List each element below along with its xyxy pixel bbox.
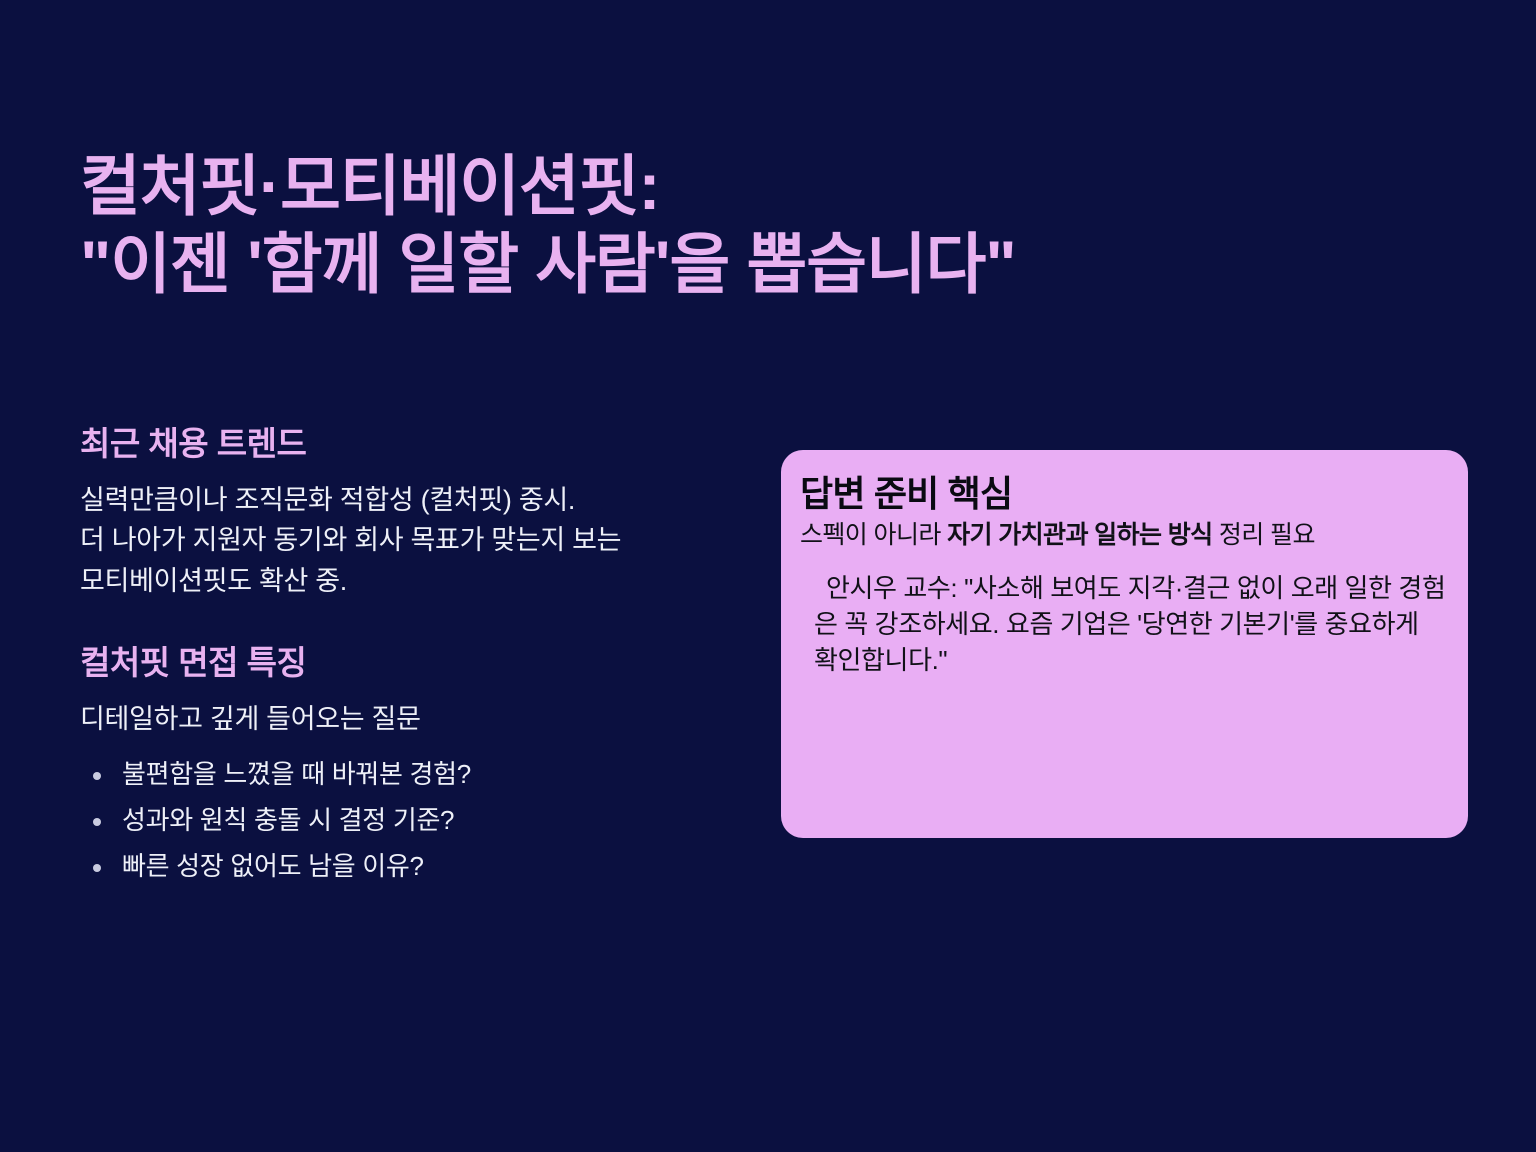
card-subtitle-post: 정리 필요 bbox=[1213, 521, 1315, 549]
list-item: 빠른 성장 없어도 남을 이유? bbox=[80, 853, 720, 879]
list-item: 불편함을 느꼈을 때 바꿔본 경험? bbox=[80, 761, 720, 787]
left-column: 최근 채용 트렌드 실력만큼이나 조직문화 적합성 (컬처핏) 중시. 더 나아… bbox=[80, 424, 720, 899]
body-line-1: 실력만큼이나 조직문화 적합성 (컬처핏) 중시. bbox=[80, 485, 575, 515]
body-line-2: 더 나아가 지원자 동기와 회사 목표가 맞는지 보는 bbox=[80, 525, 621, 555]
title-line-2: "이젠 '함께 일할 사람'을 뽑습니다" bbox=[80, 226, 1420, 304]
list-item-label: 불편함을 느꼈을 때 바꿔본 경험? bbox=[122, 759, 471, 789]
slide-root: 컬처핏·모티베이션핏: "이젠 '함께 일할 사람'을 뽑습니다" 최근 채용 … bbox=[0, 0, 1536, 1152]
answer-prep-card: 답변 준비 핵심 스펙이 아니라 자기 가치관과 일하는 방식 정리 필요 안시… bbox=[781, 450, 1468, 838]
culturefit-question-list: 불편함을 느꼈을 때 바꿔본 경험? 성과와 원칙 충돌 시 결정 기준? 빠른… bbox=[80, 761, 720, 879]
slide-title: 컬처핏·모티베이션핏: "이젠 '함께 일할 사람'을 뽑습니다" bbox=[80, 148, 1420, 304]
card-expert-quote: 안시우 교수: "사소해 보여도 지각·결근 없이 오래 일한 경험은 꼭 강조… bbox=[800, 570, 1448, 679]
card-subtitle: 스펙이 아니라 자기 가치관과 일하는 방식 정리 필요 bbox=[800, 519, 1448, 552]
section-body-recent-trend: 실력만큼이나 조직문화 적합성 (컬처핏) 중시. 더 나아가 지원자 동기와 … bbox=[80, 480, 720, 602]
section-heading-culturefit-interview: 컬처핏 면접 특징 bbox=[80, 643, 720, 683]
bullet-dot-icon bbox=[93, 818, 101, 826]
card-subtitle-emphasis: 자기 가치관과 일하는 방식 bbox=[947, 521, 1212, 549]
title-line-1: 컬처핏·모티베이션핏: bbox=[80, 148, 1420, 226]
bullet-dot-icon bbox=[93, 772, 101, 780]
list-item: 성과와 원칙 충돌 시 결정 기준? bbox=[80, 807, 720, 833]
section-heading-recent-trend: 최근 채용 트렌드 bbox=[80, 424, 720, 464]
card-heading: 답변 준비 핵심 bbox=[800, 472, 1448, 515]
list-item-label: 성과와 원칙 충돌 시 결정 기준? bbox=[122, 805, 454, 835]
card-subtitle-pre: 스펙이 아니라 bbox=[800, 521, 947, 549]
list-item-label: 빠른 성장 없어도 남을 이유? bbox=[122, 851, 424, 881]
section-lead-culturefit: 디테일하고 깊게 들어오는 질문 bbox=[80, 699, 720, 740]
bullet-dot-icon bbox=[93, 864, 101, 872]
body-line-3: 모티베이션핏도 확산 중. bbox=[80, 566, 347, 596]
